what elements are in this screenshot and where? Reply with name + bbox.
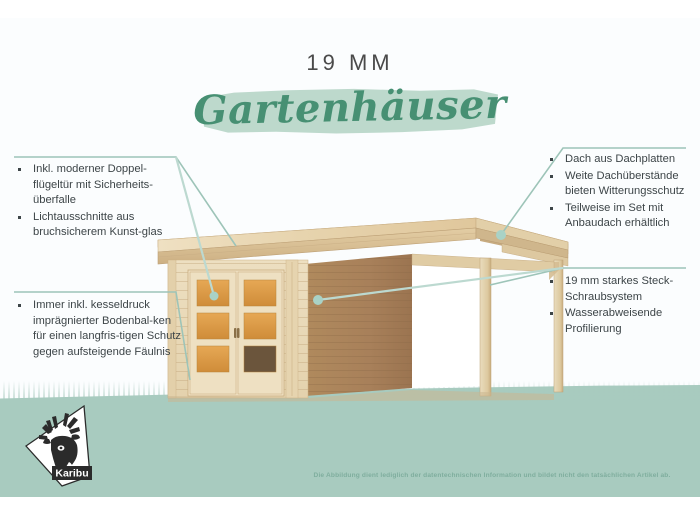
callout-text: Immer inkl. kesseldruck imprägnierter Bo… [33, 299, 181, 358]
list-item: 19 mm starkes Steck-Schraubsystem [548, 274, 698, 305]
cabin-side-wall-logs [305, 254, 412, 396]
list-item: Immer inkl. kesseldruck imprägnierter Bo… [16, 298, 181, 360]
door-glass-pane [244, 280, 276, 306]
door-glass-pane [244, 346, 276, 372]
list-item: Wasserabweisende Profilierung [548, 306, 698, 337]
door-glass-pane [197, 346, 229, 372]
callout-left-top: Inkl. moderner Doppel-flügeltür mit Sich… [16, 162, 176, 242]
karibu-logo: Karibu [22, 402, 112, 490]
disclaimer-text: Die Abbildung dient lediglich der datent… [292, 472, 692, 479]
door-glass-pane [197, 313, 229, 339]
callout-left-bottom: Immer inkl. kesseldruck imprägnierter Bo… [16, 298, 181, 361]
list-item: Lichtausschnitte aus bruchsicherem Kunst… [16, 210, 176, 241]
door-glass-pane [244, 313, 276, 339]
page-subtitle: 19 MM [0, 50, 700, 76]
list-item: Inkl. moderner Doppel-flügeltür mit Sich… [16, 162, 176, 209]
list-item: Teilweise im Set mit Anbaudach erhältlic… [548, 201, 698, 232]
annex-front-post [480, 258, 491, 396]
callout-text: Weite Dachüberstände bieten Witterungssc… [565, 170, 684, 198]
callout-text: 19 mm starkes Steck-Schraubsystem [565, 275, 673, 303]
callout-text: Wasserabweisende Profilierung [565, 307, 662, 335]
annex-opening [412, 255, 480, 388]
callout-text: Dach aus Dachplatten [565, 153, 675, 165]
door-handle-right [237, 328, 240, 338]
callout-text: Inkl. moderner Doppel-flügeltür mit Sich… [33, 163, 153, 206]
list-item: Dach aus Dachplatten [548, 152, 698, 168]
callout-right-bottom: 19 mm starkes Steck-Schraubsystem Wasser… [548, 274, 698, 338]
poster-canvas: 19 MM Gartenhäuser [0, 0, 700, 525]
garden-house-illustration [150, 210, 570, 410]
callout-right-top: Dach aus Dachplatten Weite Dachüberständ… [548, 152, 698, 233]
list-item: Weite Dachüberstände bieten Witterungssc… [548, 169, 698, 200]
deer-pupil [60, 447, 63, 449]
door-handle-left [234, 328, 237, 338]
callout-text: Teilweise im Set mit Anbaudach erhältlic… [565, 202, 670, 230]
door-glass-pane [197, 280, 229, 306]
logo-brand-name: Karibu [55, 468, 88, 480]
callout-text: Lichtausschnitte aus bruchsicherem Kunst… [33, 211, 162, 239]
